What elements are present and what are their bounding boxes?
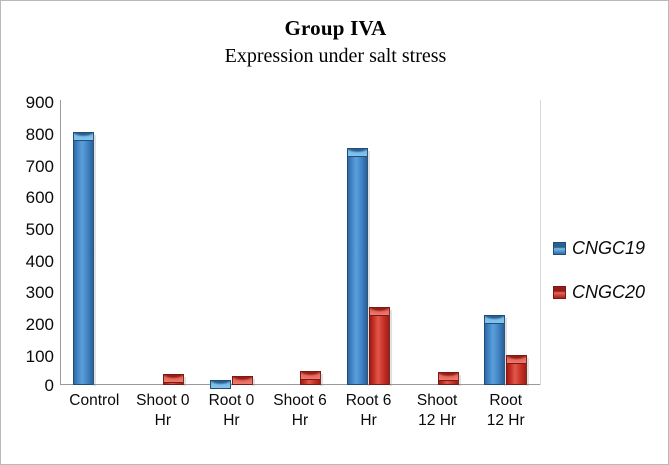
bar-shadow (252, 379, 255, 387)
bar-shadow (93, 135, 96, 386)
plot-right-border (540, 100, 541, 385)
bar-cngc20-root-6-hr[interactable] (369, 307, 390, 385)
bar-top-cap-icon (369, 307, 390, 316)
legend-label-cngc19: CNGC19 (572, 238, 645, 259)
legend-item-cngc19[interactable]: CNGC19 (553, 237, 665, 259)
x-axis-labels: ControlShoot 0HrRoot 0HrShoot 6HrRoot 6H… (60, 391, 541, 451)
chart-legend: CNGC19 CNGC20 (553, 237, 665, 325)
red-series-swatch-icon (553, 286, 566, 299)
x-tick-root-6-hr: Root 6Hr (334, 391, 403, 431)
bar-cngc20-shoot-6-hr[interactable] (300, 371, 321, 385)
bar-shadow (183, 377, 186, 386)
x-tick-line1: Root 6 (346, 392, 392, 409)
bar-top-cap-icon (232, 376, 253, 385)
bar-shadow (320, 374, 323, 386)
bar-cngc20-root-0-hr[interactable] (232, 376, 253, 386)
y-tick-600: 600 (6, 189, 54, 206)
bar-cngc19-root-6-hr[interactable] (347, 148, 368, 386)
legend-item-cngc20[interactable]: CNGC20 (553, 281, 665, 303)
bar-cngc19-root-12-hr[interactable] (484, 315, 505, 385)
x-tick-shoot-0-hr: Shoot 0Hr (129, 391, 198, 431)
bar-group (334, 100, 403, 385)
bar-cngc20-shoot-0-hr[interactable] (163, 374, 184, 385)
x-tick-line2: 12 Hr (471, 411, 540, 431)
chart-subtitle: Expression under salt stress (1, 43, 669, 69)
x-tick-line1: Root (489, 392, 522, 409)
bar-top-cap-icon (438, 372, 459, 381)
legend-label-cngc20: CNGC20 (572, 282, 645, 303)
chart-title-block: Group IVA Expression under salt stress (1, 15, 669, 69)
x-tick-line2: Hr (129, 411, 198, 431)
x-tick-root-12-hr: Root12 Hr (471, 391, 540, 431)
bar-group (60, 100, 129, 385)
x-tick-line2: Hr (266, 411, 335, 431)
y-tick-900: 900 (6, 94, 54, 111)
x-tick-root-0-hr: Root 0Hr (197, 391, 266, 431)
bar-shadow (389, 310, 392, 386)
bar-top-cap-icon (347, 148, 368, 157)
y-tick-0: 0 (6, 377, 54, 394)
bar-cngc20-shoot-12-hr[interactable] (438, 372, 459, 385)
bar-group (471, 100, 540, 385)
x-tick-line1: Shoot (417, 392, 458, 409)
y-tick-800: 800 (6, 126, 54, 143)
bar-top-cap-icon (210, 380, 231, 389)
bar-top-cap-icon (484, 315, 505, 324)
bar-group (197, 100, 266, 385)
chart-container: Group IVA Expression under salt stress 9… (0, 0, 669, 465)
x-tick-shoot-6-hr: Shoot 6Hr (266, 391, 335, 431)
bar-shadow (458, 375, 461, 386)
bar-top-cap-icon (73, 132, 94, 141)
bar-shadow (526, 358, 529, 386)
y-tick-300: 300 (6, 284, 54, 301)
y-axis-labels: 900 800 700 600 500 400 300 200 100 0 (1, 1, 54, 465)
page-title: Group IVA (1, 15, 669, 41)
bar-cngc20-root-12-hr[interactable] (506, 355, 527, 385)
x-tick-line1: Root 0 (209, 392, 255, 409)
x-tick-line1: Shoot 0 (136, 392, 189, 409)
bar-top-cap-icon (506, 355, 527, 364)
y-tick-200: 200 (6, 316, 54, 333)
bar-group (266, 100, 335, 385)
x-tick-shoot-12-hr: Shoot12 Hr (403, 391, 472, 431)
x-tick-line1: Shoot 6 (273, 392, 326, 409)
x-tick-line2: Hr (197, 411, 266, 431)
bar-group (403, 100, 472, 385)
plot-area (60, 100, 540, 385)
y-tick-700: 700 (6, 158, 54, 175)
x-tick-line2: Hr (334, 411, 403, 431)
y-tick-500: 500 (6, 221, 54, 238)
bar-cngc19-control[interactable] (73, 132, 94, 385)
x-tick-line2: 12 Hr (403, 411, 472, 431)
bar-top-cap-icon (300, 371, 321, 380)
bar-group (129, 100, 198, 385)
x-tick-line1: Control (69, 392, 119, 409)
blue-series-swatch-icon (553, 242, 566, 255)
y-tick-400: 400 (6, 253, 54, 270)
y-tick-100: 100 (6, 348, 54, 365)
bar-cngc19-root-0-hr[interactable] (210, 380, 231, 385)
bar-top-cap-icon (163, 374, 184, 383)
x-tick-control: Control (60, 391, 129, 411)
